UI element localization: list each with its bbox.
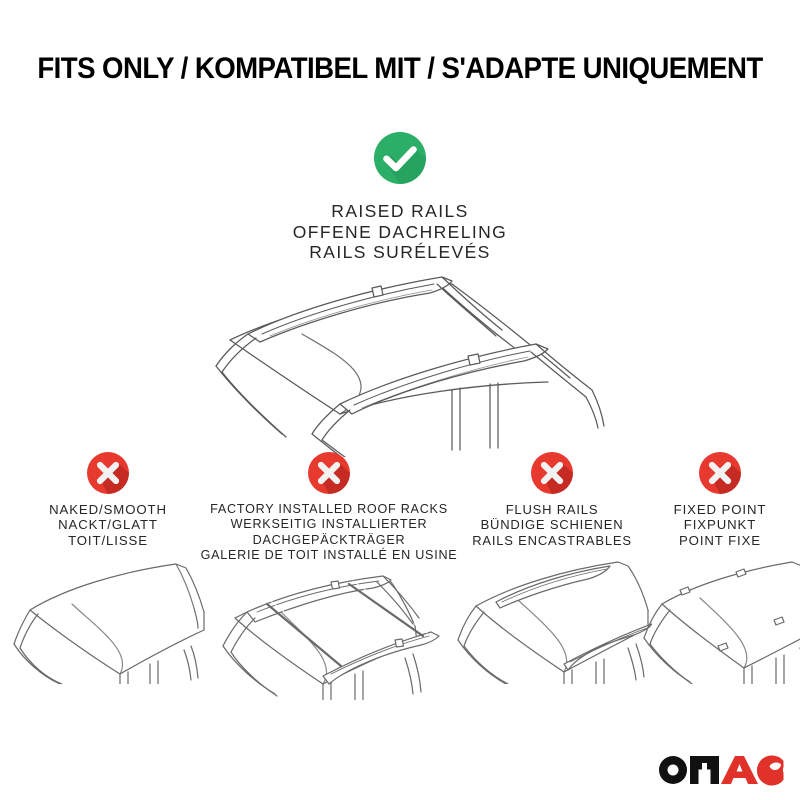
incompatible-label-de: NACKT/GLATT: [8, 517, 208, 532]
logo-letter-a: [721, 756, 758, 784]
incompatible-label-de: BÜNDIGE SCHIENEN: [452, 517, 652, 532]
incompatible-label-fr: GALERIE DE TOIT INSTALLÉ EN USINE: [196, 548, 462, 563]
incompatible-labels: FLUSH RAILS BÜNDIGE SCHIENEN RAILS ENCAS…: [452, 502, 652, 548]
incompatible-item-naked-smooth: NAKED/SMOOTH NACKT/GLATT TOIT/LISSE: [8, 452, 208, 689]
omac-logo: OMAC: [655, 752, 787, 788]
incompatible-label-en: FACTORY INSTALLED ROOF RACKS: [196, 502, 462, 517]
car-roof-naked-smooth-illustration: [8, 554, 208, 689]
page-title: FITS ONLY / KOMPATIBEL MIT / S'ADAPTE UN…: [32, 52, 768, 86]
incompatible-label-de-2: DACHGEPÄCKTRÄGER: [196, 533, 462, 548]
incompatible-label-en: FLUSH RAILS: [452, 502, 652, 517]
incompatible-label-fr: RAILS ENCASTRABLES: [452, 533, 652, 548]
car-roof-raised-rails-illustration: [190, 272, 620, 457]
incompatible-section: NAKED/SMOOTH NACKT/GLATT TOIT/LISSE: [0, 452, 800, 702]
car-roof-factory-rack-illustration: [196, 570, 462, 705]
cross-circle-icon: [531, 452, 573, 494]
incompatible-labels: NAKED/SMOOTH NACKT/GLATT TOIT/LISSE: [8, 502, 208, 548]
incompatible-item-flush-rails: FLUSH RAILS BÜNDIGE SCHIENEN RAILS ENCAS…: [452, 452, 652, 689]
logo-text: OMAC: [787, 752, 788, 753]
compatible-label-de: OFFENE DACHRELING: [0, 222, 800, 243]
compatible-section: RAISED RAILS OFFENE DACHRELING RAILS SUR…: [0, 132, 800, 263]
incompatible-label-de: FIXPUNKT: [640, 517, 800, 532]
incompatible-labels: FACTORY INSTALLED ROOF RACKS WERKSEITIG …: [196, 502, 462, 564]
compatible-label-fr: RAILS SURÉLEVÉS: [0, 242, 800, 263]
incompatible-item-fixed-point: FIXED POINT FIXPUNKT POINT FIXE: [640, 452, 800, 689]
compatible-label-en: RAISED RAILS: [0, 201, 800, 222]
car-roof-flush-rails-illustration: [452, 554, 652, 689]
incompatible-item-factory-roof-racks: FACTORY INSTALLED ROOF RACKS WERKSEITIG …: [196, 452, 462, 705]
incompatible-labels: FIXED POINT FIXPUNKT POINT FIXE: [640, 502, 800, 548]
incompatible-label-fr: POINT FIXE: [640, 533, 800, 548]
cross-circle-icon: [699, 452, 741, 494]
incompatible-label-en: FIXED POINT: [640, 502, 800, 517]
car-roof-fixed-point-illustration: [640, 554, 800, 689]
cross-circle-icon: [87, 452, 129, 494]
check-circle-icon: [374, 132, 426, 184]
logo-letter-o: [659, 756, 687, 784]
incompatible-label-fr: TOIT/LISSE: [8, 533, 208, 548]
logo-letter-m: [690, 762, 719, 784]
incompatible-label-en: NAKED/SMOOTH: [8, 502, 208, 517]
incompatible-label-de-1: WERKSEITIG INSTALLIERTER: [196, 517, 462, 532]
compatible-labels: RAISED RAILS OFFENE DACHRELING RAILS SUR…: [0, 201, 800, 263]
cross-circle-icon: [308, 452, 350, 494]
